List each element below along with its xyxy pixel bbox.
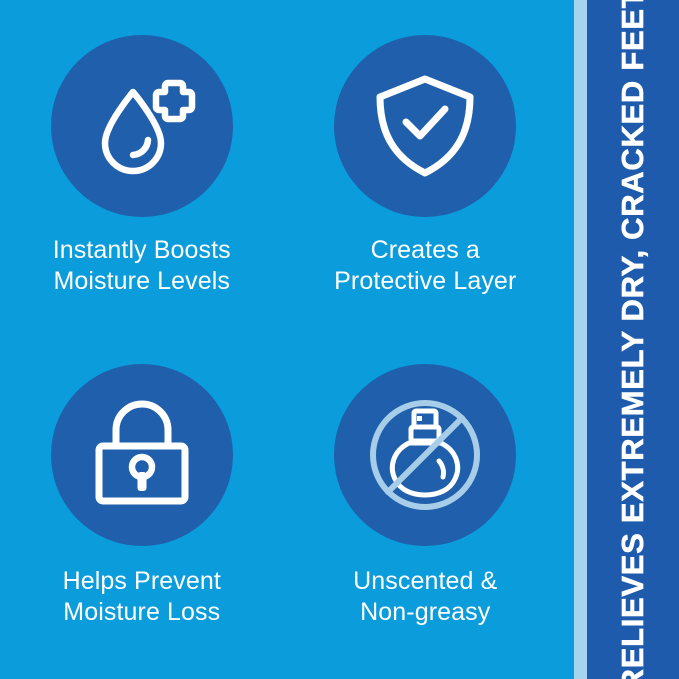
shield-check-icon	[373, 72, 477, 180]
feature-item-moisture-lock: Helps Prevent Moisture Loss	[0, 340, 284, 679]
side-banner: RELIEVES EXTREMELY DRY, CRACKED FEET	[567, 0, 679, 679]
banner-body: RELIEVES EXTREMELY DRY, CRACKED FEET	[587, 0, 679, 679]
banner-headline: RELIEVES EXTREMELY DRY, CRACKED FEET	[615, 0, 651, 679]
features-panel: Instantly Boosts Moisture Levels Creates…	[0, 0, 567, 679]
icon-circle	[51, 364, 233, 546]
icon-circle	[334, 364, 516, 546]
feature-item-protective-layer: Creates a Protective Layer	[284, 0, 568, 340]
padlock-icon	[92, 402, 192, 508]
feature-label: Creates a Protective Layer	[334, 235, 516, 297]
feature-grid: Instantly Boosts Moisture Levels Creates…	[0, 0, 567, 679]
feature-label: Unscented & Non-greasy	[353, 566, 497, 628]
feature-label: Helps Prevent Moisture Loss	[63, 566, 221, 628]
product-benefits-infographic: Instantly Boosts Moisture Levels Creates…	[0, 0, 679, 679]
icon-circle	[334, 35, 516, 217]
feature-item-moisture-boost: Instantly Boosts Moisture Levels	[0, 0, 284, 340]
water-drop-plus-icon	[86, 70, 198, 182]
feature-item-unscented: Unscented & Non-greasy	[284, 340, 568, 679]
feature-label: Instantly Boosts Moisture Levels	[53, 235, 231, 297]
accent-stripe-bright	[567, 0, 574, 679]
accent-stripe-light	[574, 0, 587, 679]
icon-circle	[51, 35, 233, 217]
no-fragrance-icon	[365, 395, 485, 515]
